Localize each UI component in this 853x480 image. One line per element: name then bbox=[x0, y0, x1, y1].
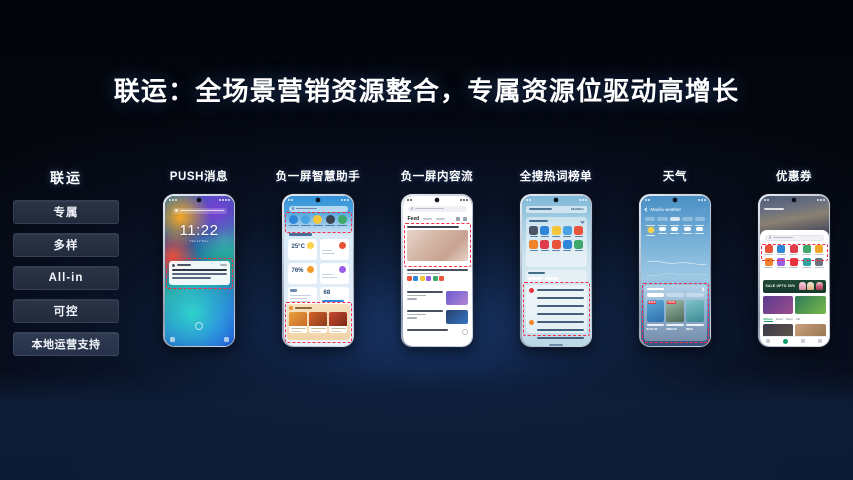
tab-feed[interactable]: Feed bbox=[408, 216, 420, 222]
day-tab-active[interactable] bbox=[670, 217, 681, 221]
phone-screen-weather: Manila weather ··· bbox=[641, 196, 710, 346]
feed-thumbnail bbox=[446, 291, 468, 305]
phone-showcase: PUSH消息 11:22 Thu 12 Nov bbox=[140, 168, 847, 378]
tab-stores[interactable]: Stores bbox=[764, 317, 773, 322]
deal-header bbox=[647, 288, 704, 291]
deal-tab[interactable] bbox=[666, 293, 684, 297]
refresh-label[interactable] bbox=[549, 344, 562, 346]
dining-item bbox=[309, 312, 327, 333]
day-tab[interactable] bbox=[682, 217, 693, 221]
weather-value: 25°C bbox=[292, 244, 305, 250]
app-item bbox=[529, 240, 539, 251]
trending-row bbox=[529, 336, 584, 341]
temp-curve-svg bbox=[645, 256, 709, 282]
app-item bbox=[574, 226, 584, 237]
column-weather: 天气 Manila weather ··· bbox=[616, 168, 734, 347]
nav-profile-icon[interactable] bbox=[818, 339, 822, 343]
profile-icon[interactable] bbox=[463, 217, 467, 221]
deal-tab-active[interactable] bbox=[647, 293, 665, 297]
shortcut-item bbox=[324, 215, 336, 227]
day-tab[interactable] bbox=[657, 217, 668, 221]
feed-item[interactable] bbox=[407, 269, 468, 282]
category-item bbox=[814, 245, 824, 255]
app-item bbox=[540, 226, 550, 237]
background-bottom-band bbox=[0, 370, 853, 480]
category-row bbox=[763, 245, 826, 255]
lockscreen-time: 11:22 bbox=[165, 222, 234, 239]
sale-banner-text: SALE UPTO 50% bbox=[766, 284, 796, 288]
suggested-apps-panel bbox=[526, 217, 587, 267]
phone-mockup-coupon[interactable]: SALE UPTO 50% Stores bbox=[758, 194, 830, 347]
search-history-title bbox=[528, 272, 545, 274]
suggested-apps-row bbox=[529, 240, 584, 251]
feed-item[interactable] bbox=[407, 310, 468, 324]
search-icon bbox=[769, 236, 772, 239]
forecast-day bbox=[657, 225, 668, 255]
sale-badge: SALE bbox=[667, 301, 676, 304]
nav-orders-icon[interactable] bbox=[801, 339, 805, 343]
battery-value: 76% bbox=[292, 268, 304, 274]
sidebar-item-all-in[interactable]: All-in bbox=[13, 266, 119, 290]
cloud-icon bbox=[659, 227, 666, 231]
promo-banners bbox=[763, 296, 826, 314]
hero-image bbox=[407, 230, 468, 261]
tab-video[interactable] bbox=[423, 218, 432, 220]
camera-notch-icon bbox=[435, 198, 439, 202]
grid-icon[interactable] bbox=[456, 217, 460, 221]
forecast-day bbox=[682, 225, 693, 255]
day-tab[interactable] bbox=[695, 217, 706, 221]
deal-tabs[interactable] bbox=[647, 293, 704, 297]
forecast-day bbox=[645, 225, 656, 255]
column-label-feed: 负一屏内容流 bbox=[401, 168, 474, 184]
coupon-category-tabs[interactable]: Stores Food Shop Attr bbox=[764, 317, 825, 322]
hero-content-card[interactable] bbox=[407, 226, 468, 264]
lockscreen-hint-banner bbox=[172, 208, 227, 214]
sale-banner[interactable]: SALE UPTO 50% bbox=[763, 280, 826, 293]
column-assistant: 负一屏智慧助手 bbox=[259, 168, 377, 347]
promo-banner[interactable] bbox=[763, 296, 794, 314]
dining-items bbox=[289, 312, 347, 333]
category-item bbox=[789, 258, 799, 268]
app-item bbox=[540, 240, 550, 251]
app-item bbox=[551, 226, 561, 237]
notification-time bbox=[220, 264, 227, 266]
deal-item[interactable]: $699 bbox=[686, 300, 704, 331]
sun-icon bbox=[648, 227, 654, 233]
phone-screen-coupon: SALE UPTO 50% Stores bbox=[760, 196, 829, 346]
page-title: 联运：全场景营销资源整合，专属资源位驱动高增长 bbox=[0, 71, 853, 108]
column-feed: 负一屏内容流 Feed bbox=[378, 168, 496, 347]
column-push: PUSH消息 11:22 Thu 12 Nov bbox=[140, 168, 258, 347]
sale-badge: SALE bbox=[648, 301, 657, 304]
phone-screen-assistant: 25°C 76% bbox=[284, 196, 353, 346]
cloud-icon bbox=[696, 227, 703, 231]
column-label-search: 全搜热词榜单 bbox=[520, 168, 593, 184]
promo-banner[interactable] bbox=[795, 296, 826, 314]
sidebar-item-diverse[interactable]: 多样 bbox=[13, 233, 119, 257]
app-icon bbox=[172, 264, 176, 268]
category-item bbox=[802, 258, 812, 268]
steps-value: 68 bbox=[324, 290, 331, 296]
nav-home-icon[interactable] bbox=[766, 339, 770, 343]
history-chip[interactable] bbox=[528, 277, 542, 280]
suggested-apps-row bbox=[529, 226, 584, 237]
cloud-icon bbox=[684, 227, 691, 231]
push-notification-card[interactable] bbox=[169, 261, 230, 285]
notification-app-name bbox=[177, 264, 191, 266]
bottom-navigation[interactable] bbox=[760, 336, 829, 346]
camera-notch-icon bbox=[197, 198, 201, 202]
music-card[interactable] bbox=[320, 263, 349, 284]
column-label-weather: 天气 bbox=[663, 168, 687, 184]
phone-screen-lockscreen: 11:22 Thu 12 Nov bbox=[165, 196, 234, 346]
column-label-assistant: 负一屏智慧助手 bbox=[276, 168, 361, 184]
assistant-card-grid: 25°C 76% bbox=[288, 239, 349, 308]
shortcut-item bbox=[312, 215, 324, 227]
notification-header bbox=[172, 264, 227, 268]
notification-body bbox=[172, 273, 227, 275]
app-item bbox=[529, 226, 539, 237]
trending-row bbox=[529, 288, 584, 293]
column-coupon: 优惠券 bbox=[735, 168, 853, 347]
dining-nearby-card[interactable] bbox=[287, 304, 350, 340]
trending-keywords-list[interactable] bbox=[526, 285, 587, 333]
chevron-down-icon[interactable] bbox=[580, 219, 584, 223]
battery-card[interactable]: 76% bbox=[288, 263, 317, 284]
suggested-apps-header bbox=[529, 220, 584, 223]
feed-thumbnail bbox=[446, 310, 468, 324]
weather-day-tabs[interactable] bbox=[645, 217, 706, 221]
deal-price: $899.00 bbox=[666, 327, 684, 331]
app-item bbox=[574, 240, 584, 251]
camera-notch-icon bbox=[792, 198, 796, 202]
app-item bbox=[562, 240, 572, 251]
category-row bbox=[763, 258, 826, 268]
feed-search-bar[interactable] bbox=[408, 206, 467, 212]
deal-items: SALE $102.00 SALE $899.00 $699 bbox=[647, 300, 704, 331]
feed-item[interactable] bbox=[407, 291, 468, 305]
camera-shortcut-icon[interactable] bbox=[224, 337, 229, 342]
phone-mockup-weather[interactable]: Manila weather ··· bbox=[639, 194, 711, 347]
phone-screen-feed: Feed bbox=[403, 196, 472, 346]
notification-title bbox=[172, 269, 227, 271]
global-search-input[interactable]: SEARCH bbox=[526, 206, 587, 213]
tab-trending[interactable] bbox=[436, 218, 445, 220]
notification-body-2 bbox=[172, 277, 212, 279]
trending-row bbox=[529, 312, 584, 317]
app-shortcut-row[interactable] bbox=[288, 215, 349, 231]
category-item bbox=[776, 258, 786, 268]
camera-notch-icon bbox=[673, 198, 677, 202]
recipe-card[interactable] bbox=[320, 239, 349, 260]
weather-header: Manila weather ··· bbox=[645, 207, 706, 212]
coupon-search-bar[interactable] bbox=[765, 235, 824, 241]
back-icon[interactable] bbox=[644, 207, 648, 211]
temperature-chart bbox=[645, 256, 706, 282]
trending-row bbox=[529, 296, 584, 301]
forecast-day bbox=[669, 225, 680, 255]
forecast-day bbox=[694, 225, 705, 255]
assistant-section-title bbox=[289, 233, 312, 236]
deal-price: $102.00 bbox=[647, 327, 665, 331]
trending-row bbox=[529, 320, 584, 325]
deal-item[interactable]: SALE $899.00 bbox=[666, 300, 684, 331]
search-history-panel bbox=[526, 270, 587, 282]
lockscreen-date: Thu 12 Nov bbox=[165, 239, 234, 243]
deal-item[interactable]: SALE $102.00 bbox=[647, 300, 665, 331]
phone-mockup-assistant[interactable]: 25°C 76% bbox=[282, 194, 354, 347]
app-item bbox=[562, 226, 572, 237]
shortcut-item bbox=[300, 215, 312, 227]
phone-screen-search: SEARCH bbox=[522, 196, 591, 346]
day-tab[interactable] bbox=[645, 217, 656, 221]
column-label-coupon: 优惠券 bbox=[776, 168, 812, 184]
cupcake-icons bbox=[799, 282, 823, 290]
trending-row bbox=[529, 328, 584, 333]
fingerprint-icon[interactable] bbox=[195, 322, 203, 330]
shortcut-item bbox=[288, 215, 300, 227]
camera-notch-icon bbox=[316, 198, 320, 202]
sidebar-item-exclusive[interactable]: 专属 bbox=[13, 200, 119, 224]
trending-row bbox=[529, 304, 584, 309]
weather-forecast-row bbox=[645, 225, 706, 255]
phone-shortcut-icon[interactable] bbox=[170, 337, 175, 342]
slide-root: 联运：全场景营销资源整合，专属资源位驱动高增长 联运 专属 多样 All-in … bbox=[0, 0, 853, 480]
column-label-push: PUSH消息 bbox=[170, 168, 229, 184]
column-search: 全搜热词榜单 SEARCH bbox=[497, 168, 615, 347]
sidebar-item-controllable[interactable]: 可控 bbox=[13, 299, 119, 323]
more-icon[interactable]: ··· bbox=[700, 207, 706, 212]
search-icon bbox=[411, 207, 414, 210]
category-item bbox=[789, 245, 799, 255]
phone-mockup-push[interactable]: 11:22 Thu 12 Nov bbox=[163, 194, 235, 347]
tab-shopping[interactable]: Shop bbox=[786, 317, 793, 322]
history-chip[interactable] bbox=[545, 277, 559, 280]
lockscreen-shortcuts bbox=[170, 337, 229, 342]
dining-header bbox=[289, 306, 347, 310]
weather-card[interactable]: 25°C bbox=[288, 239, 317, 260]
camera-notch-icon bbox=[554, 198, 558, 202]
category-item bbox=[814, 258, 824, 268]
weather-city: Manila weather bbox=[651, 207, 682, 212]
sidebar-header: 联运 bbox=[13, 168, 119, 188]
category-item bbox=[764, 258, 774, 268]
chevron-right-icon[interactable] bbox=[700, 287, 704, 291]
nav-nearby-icon[interactable] bbox=[783, 339, 788, 344]
dining-item bbox=[329, 312, 347, 333]
coupon-category-icons bbox=[763, 245, 826, 271]
cloud-icon bbox=[671, 227, 678, 231]
feed-tabs[interactable]: Feed bbox=[408, 215, 467, 223]
sidebar-item-local-ops-support[interactable]: 本地运营支持 bbox=[13, 332, 119, 356]
category-item bbox=[764, 245, 774, 255]
category-item bbox=[776, 245, 786, 255]
tab-attraction[interactable]: Attr bbox=[796, 317, 801, 322]
assistant-search-bar[interactable] bbox=[289, 206, 348, 212]
phone-mockup-search[interactable]: SEARCH bbox=[520, 194, 592, 347]
phone-mockup-feed[interactable]: Feed bbox=[401, 194, 473, 347]
sidebar: 联运 专属 多样 All-in 可控 本地运营支持 bbox=[13, 168, 119, 365]
category-item bbox=[802, 245, 812, 255]
dining-item bbox=[289, 312, 307, 333]
hero-title bbox=[407, 226, 459, 228]
deal-hotels-section[interactable]: SALE $102.00 SALE $899.00 $699 bbox=[644, 285, 707, 341]
app-item bbox=[551, 240, 561, 251]
tab-food[interactable]: Food bbox=[776, 317, 783, 322]
coupon-sheet: SALE UPTO 50% Stores bbox=[760, 230, 829, 346]
feed-item[interactable] bbox=[407, 329, 468, 335]
deal-price: $699 bbox=[686, 327, 704, 331]
deal-tab[interactable] bbox=[686, 293, 704, 297]
shortcut-item bbox=[336, 215, 348, 227]
hero-location-label bbox=[764, 208, 785, 210]
search-history-chips bbox=[528, 277, 584, 280]
search-button[interactable]: SEARCH bbox=[571, 207, 584, 211]
refresh-icon[interactable] bbox=[462, 329, 468, 335]
